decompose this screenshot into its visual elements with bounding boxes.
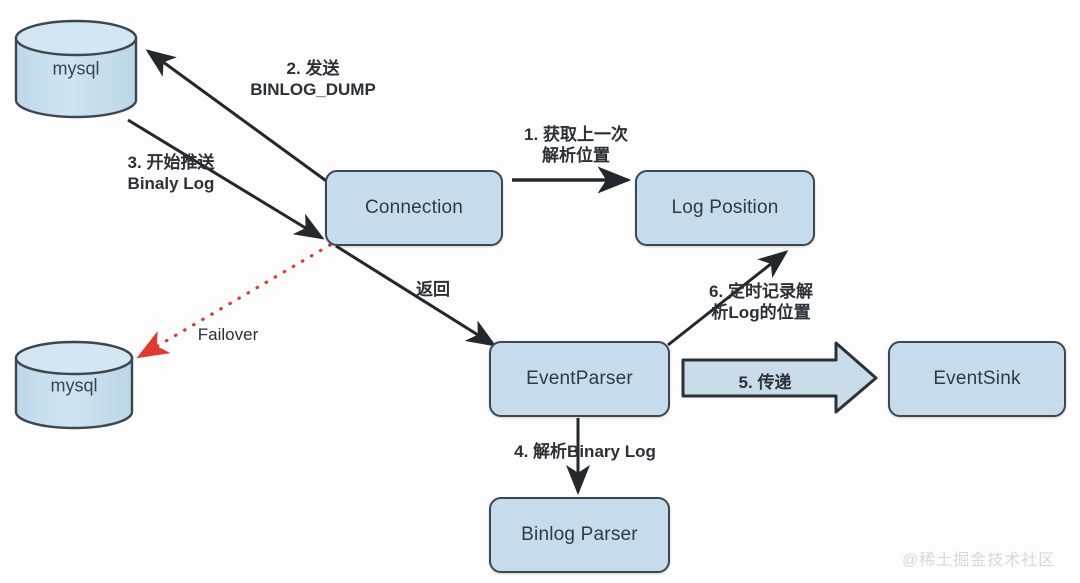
watermark: @稀土掘金技术社区 (902, 546, 1055, 570)
event-parser-node[interactable]: EventParser (489, 341, 670, 417)
event-sink-node[interactable]: EventSink (888, 341, 1066, 417)
connection-node[interactable]: Connection (325, 170, 503, 246)
diagram-connectors (0, 0, 1080, 583)
binlog-parser-node[interactable]: Binlog Parser (489, 497, 670, 573)
mysql-standby-label: mysql (16, 376, 132, 397)
edge-label-record-position: 6. 定时记录解 析Log的位置 (686, 281, 836, 324)
edge-label-start-push: 3. 开始推送 Binaly Log (82, 152, 260, 195)
edge-label-deliver: 5. 传递 (700, 368, 830, 393)
mysql-master-label: mysql (16, 59, 136, 80)
edge-label-send-binlog-dump: 2. 发送 BINLOG_DUMP (198, 58, 428, 101)
edge-label-parse-binary-log: 4. 解析Binary Log (490, 441, 680, 462)
edge-label-get-last-position: 1. 获取上一次 解析位置 (485, 124, 667, 167)
diagram-canvas: mysql mysql Connection Log Position Even… (0, 0, 1080, 583)
mysql-standby-node[interactable]: mysql (16, 342, 132, 430)
edge-label-return: 返回 (395, 279, 471, 300)
log-position-node[interactable]: Log Position (635, 170, 815, 246)
edge-label-failover: Failover (168, 324, 288, 345)
mysql-master-node[interactable]: mysql (16, 21, 136, 117)
